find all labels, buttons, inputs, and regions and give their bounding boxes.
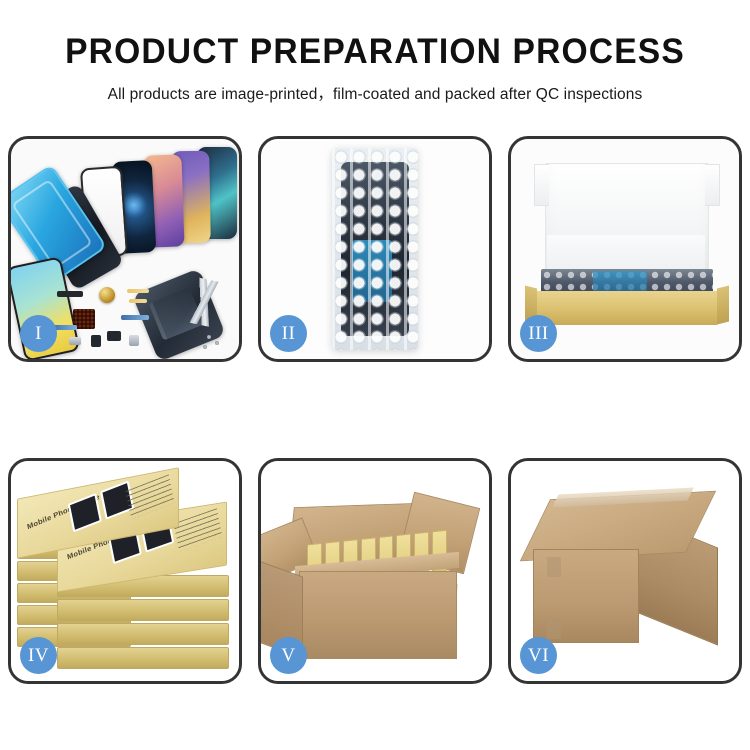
button-part xyxy=(91,335,101,347)
box-edge-8 xyxy=(57,623,229,645)
step-badge-2: II xyxy=(270,315,307,352)
process-step-panel-3: III xyxy=(508,136,742,362)
page-header: PRODUCT PREPARATION PROCESS All products… xyxy=(0,0,750,104)
process-step-panel-2: II xyxy=(258,136,492,362)
packing-tape-mark-upper xyxy=(547,557,561,577)
process-step-grid: I II III xyxy=(8,136,742,684)
process-step-panel-6: VI xyxy=(508,458,742,684)
step-badge-6: VI xyxy=(520,637,557,674)
flex-cable-part-1 xyxy=(127,289,149,293)
screw-part-1 xyxy=(207,335,211,339)
step-badge-3: III xyxy=(520,315,557,352)
box-edge-7 xyxy=(57,599,229,621)
screw-part-2 xyxy=(215,341,219,345)
flex-cable-part-4 xyxy=(121,315,149,320)
step-badge-4: IV xyxy=(20,637,57,674)
bubble-wrap-seams xyxy=(332,148,418,350)
carton-body-front xyxy=(299,571,457,659)
screw-part-3 xyxy=(203,345,207,349)
box-edge-9 xyxy=(57,647,229,669)
step-badge-1: I xyxy=(20,315,57,352)
camera-module-part xyxy=(107,331,121,341)
vibration-motor-part xyxy=(99,287,115,303)
bubble-wrapped-unit xyxy=(332,148,418,350)
packing-tape-mark-lower xyxy=(547,621,561,639)
page-subtitle: All products are image-printed，film-coat… xyxy=(0,82,750,104)
page-title: PRODUCT PREPARATION PROCESS xyxy=(15,34,735,71)
bracket-part xyxy=(69,337,81,345)
process-step-panel-4: Mobile Phone Spare Parts Mobile Phone Sp… xyxy=(8,458,242,684)
sim-tray-part xyxy=(129,335,139,346)
process-step-panel-5: V xyxy=(258,458,492,684)
flex-cable-part-2 xyxy=(129,299,147,303)
step-badge-5: V xyxy=(270,637,307,674)
speaker-part xyxy=(57,291,83,297)
kraft-box-base xyxy=(535,291,719,325)
process-step-panel-1: I xyxy=(8,136,242,362)
